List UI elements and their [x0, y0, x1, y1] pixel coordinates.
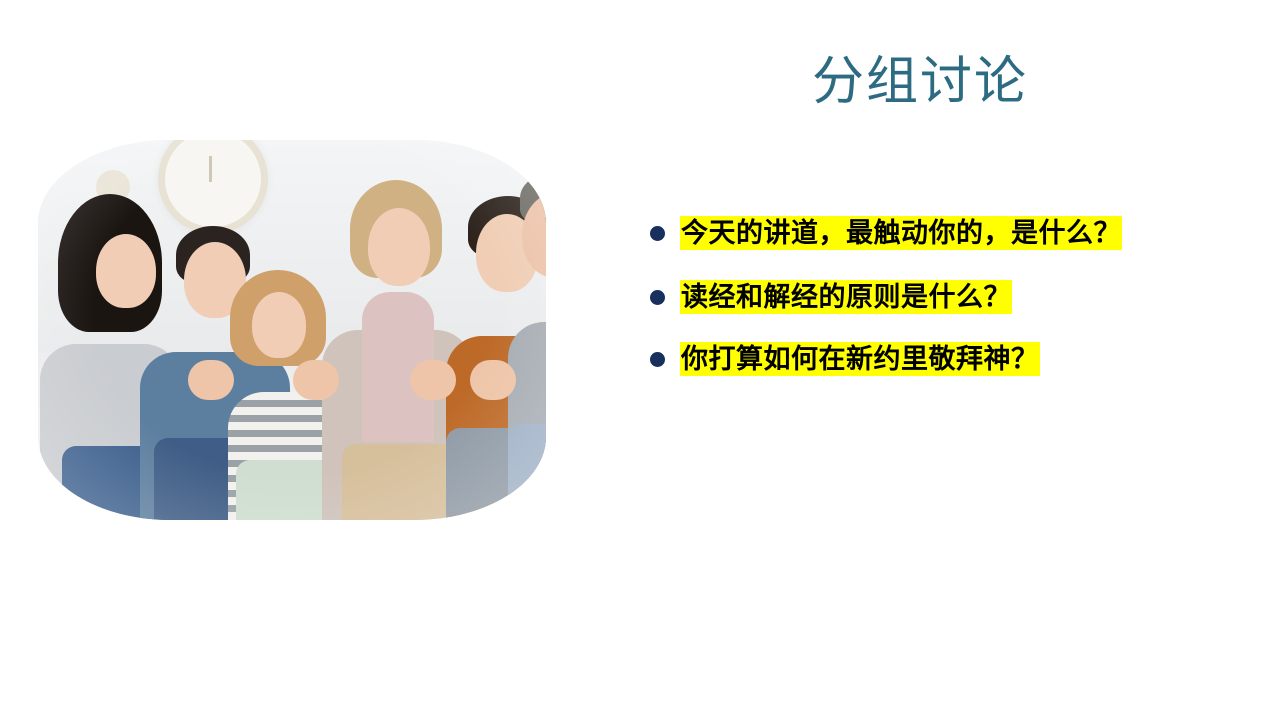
photo-content — [38, 140, 546, 520]
list-item: 读经和解经的原则是什么？ — [648, 278, 1168, 316]
bullet-marker-icon — [650, 290, 665, 305]
bullet-marker-icon — [650, 352, 665, 367]
group-photo — [38, 140, 546, 520]
list-item-label: 你打算如何在新约里敬拜神？ — [680, 342, 1040, 376]
held-hands — [293, 360, 339, 400]
list-item: 你打算如何在新约里敬拜神？ — [648, 340, 1168, 378]
bullet-marker-icon — [650, 226, 665, 241]
list-item-label: 读经和解经的原则是什么？ — [680, 280, 1012, 314]
list-item: 今天的讲道，最触动你的，是什么？ — [648, 214, 1168, 252]
list-item-label: 今天的讲道，最触动你的，是什么？ — [680, 216, 1122, 250]
held-hands — [470, 360, 516, 400]
held-hands — [410, 360, 456, 400]
held-hands — [188, 360, 234, 400]
presentation-slide: 分组讨论 — [0, 0, 1280, 720]
page-title: 分组讨论 — [640, 52, 1200, 113]
bullet-list: 今天的讲道，最触动你的，是什么？ 读经和解经的原则是什么？ 你打算如何在新约里敬… — [648, 214, 1168, 400]
person-figure — [508, 170, 546, 520]
